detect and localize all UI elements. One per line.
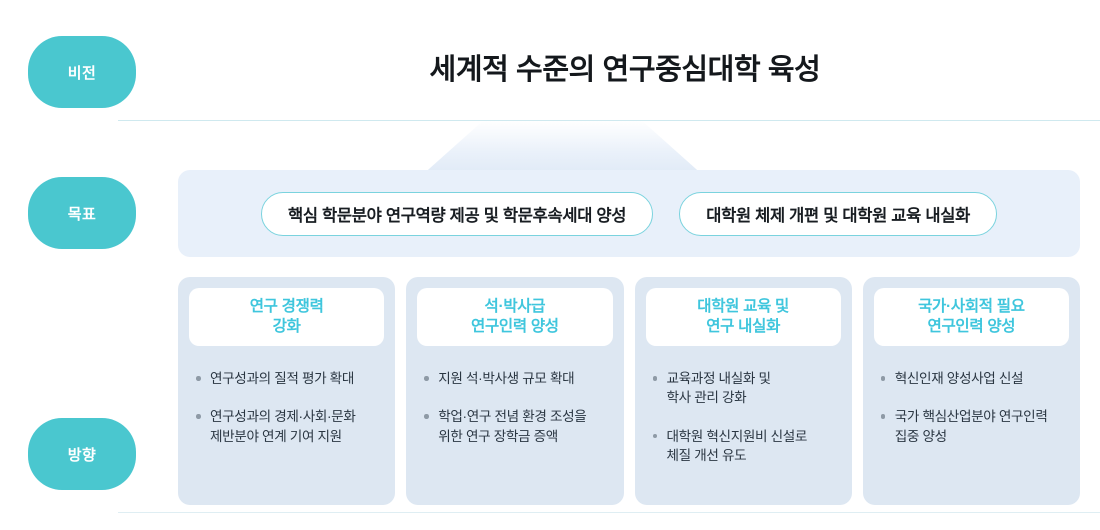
strategy-diagram: 비전 목표 방향 세계적 수준의 연구중심대학 육성 핵심 학문분야 연구역량 … [0,0,1100,530]
list-item: 연구성과의 경제·사회·문화 제반분야 연계 기여 지원 [195,407,380,446]
direction-card-3-title: 대학원 교육 및 연구 내실화 [646,288,841,346]
goal-pill-1: 핵심 학문분야 연구역량 제공 및 학문후속세대 양성 [261,192,653,236]
direction-card-row: 연구 경쟁력 강화 연구성과의 질적 평가 확대 연구성과의 경제·사회·문화 … [178,277,1080,505]
badge-direction: 방향 [28,418,136,490]
direction-card-1-title: 연구 경쟁력 강화 [189,288,384,346]
badge-goal: 목표 [28,177,136,249]
direction-card-4-title: 국가·사회적 필요 연구인력 양성 [874,288,1069,346]
list-item: 연구성과의 질적 평가 확대 [195,369,380,388]
list-item: 지원 석·박사생 규모 확대 [423,369,608,388]
direction-card-3-list: 교육과정 내실화 및 학사 관리 강화 대학원 혁신지원비 신설로 체질 개선 … [646,346,841,505]
goal-band: 핵심 학문분야 연구역량 제공 및 학문후속세대 양성 대학원 체제 개편 및 … [178,170,1080,257]
list-item: 대학원 혁신지원비 신설로 체질 개선 유도 [652,427,837,466]
direction-card-1: 연구 경쟁력 강화 연구성과의 질적 평가 확대 연구성과의 경제·사회·문화 … [178,277,395,505]
direction-card-2: 석·박사급 연구인력 양성 지원 석·박사생 규모 확대 학업·연구 전념 환경… [406,277,623,505]
funnel-connector-shape [420,121,705,177]
goal-pill-2: 대학원 체제 개편 및 대학원 교육 내실화 [679,192,997,236]
direction-card-4-list: 혁신인재 양성사업 신설 국가 핵심산업분야 연구인력 집중 양성 [874,346,1069,505]
direction-card-2-list: 지원 석·박사생 규모 확대 학업·연구 전념 환경 조성을 위한 연구 장학금… [417,346,612,505]
list-item: 혁신인재 양성사업 신설 [880,369,1065,388]
direction-card-4: 국가·사회적 필요 연구인력 양성 혁신인재 양성사업 신설 국가 핵심산업분야… [863,277,1080,505]
divider-bottom [118,512,1100,513]
vision-title: 세계적 수준의 연구중심대학 육성 [170,46,1080,88]
badge-vision: 비전 [28,36,136,108]
list-item: 학업·연구 전념 환경 조성을 위한 연구 장학금 증액 [423,407,608,446]
list-item: 국가 핵심산업분야 연구인력 집중 양성 [880,407,1065,446]
direction-card-1-list: 연구성과의 질적 평가 확대 연구성과의 경제·사회·문화 제반분야 연계 기여… [189,346,384,505]
divider-top [118,120,1100,121]
direction-card-3: 대학원 교육 및 연구 내실화 교육과정 내실화 및 학사 관리 강화 대학원 … [635,277,852,505]
direction-card-2-title: 석·박사급 연구인력 양성 [417,288,612,346]
list-item: 교육과정 내실화 및 학사 관리 강화 [652,369,837,408]
